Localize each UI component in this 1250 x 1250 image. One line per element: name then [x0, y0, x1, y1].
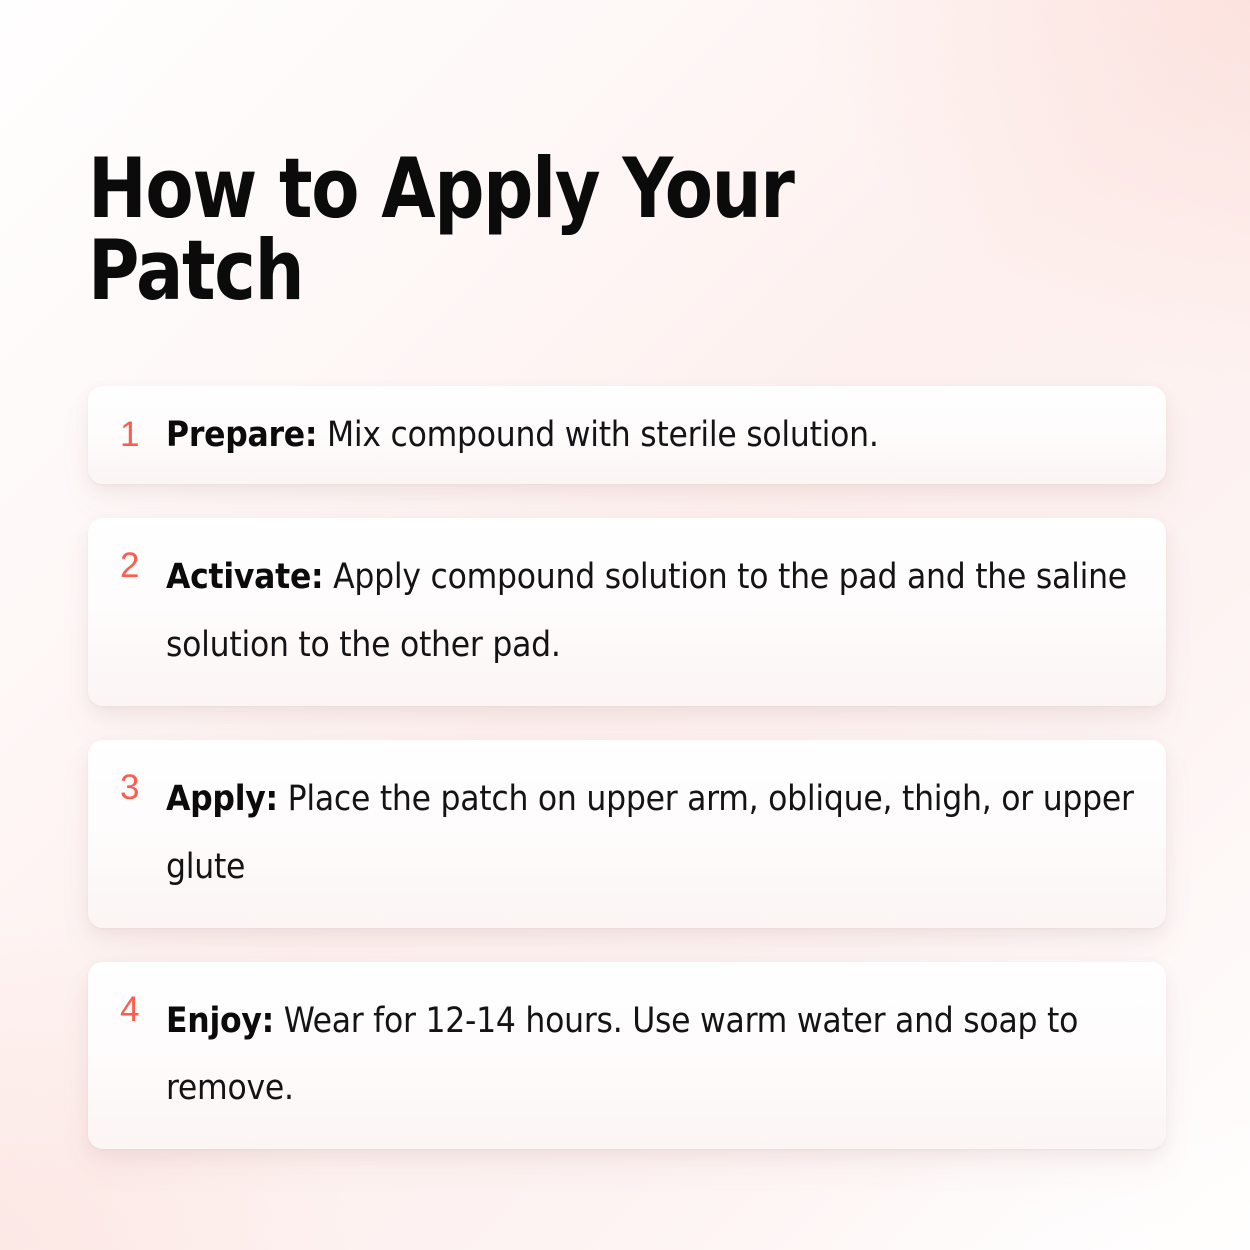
steps-list: 1 Prepare: Mix compound with sterile sol… [88, 386, 1166, 1149]
poster-canvas: How to Apply Your Patch 1 Prepare: Mix c… [0, 0, 1250, 1250]
step-card-3: 3 Apply: Place the patch on upper arm, o… [88, 740, 1166, 928]
step-label-3: Apply: [166, 779, 278, 819]
step-text-1: Mix compound with sterile solution. [317, 415, 878, 455]
step-body-1: Prepare: Mix compound with sterile solut… [166, 413, 1136, 458]
step-number-3: 3 [120, 766, 166, 811]
step-number-4: 4 [120, 988, 166, 1033]
step-number-1: 1 [120, 413, 166, 458]
step-text-4: Wear for 12-14 hours. Use warm water and… [166, 1001, 1078, 1109]
step-number-2: 2 [120, 544, 166, 589]
step-label-2: Activate: [166, 557, 323, 597]
step-label-1: Prepare: [166, 415, 317, 455]
step-card-4: 4 Enjoy: Wear for 12-14 hours. Use warm … [88, 962, 1166, 1150]
page-title: How to Apply Your Patch [88, 148, 802, 312]
step-body-3: Apply: Place the patch on upper arm, obl… [166, 766, 1136, 902]
step-body-2: Activate: Apply compound solution to the… [166, 544, 1136, 680]
step-label-4: Enjoy: [166, 1001, 274, 1041]
step-card-2: 2 Activate: Apply compound solution to t… [88, 518, 1166, 706]
step-body-4: Enjoy: Wear for 12-14 hours. Use warm wa… [166, 988, 1136, 1124]
step-text-3: Place the patch on upper arm, oblique, t… [166, 779, 1134, 887]
step-card-1: 1 Prepare: Mix compound with sterile sol… [88, 386, 1166, 484]
